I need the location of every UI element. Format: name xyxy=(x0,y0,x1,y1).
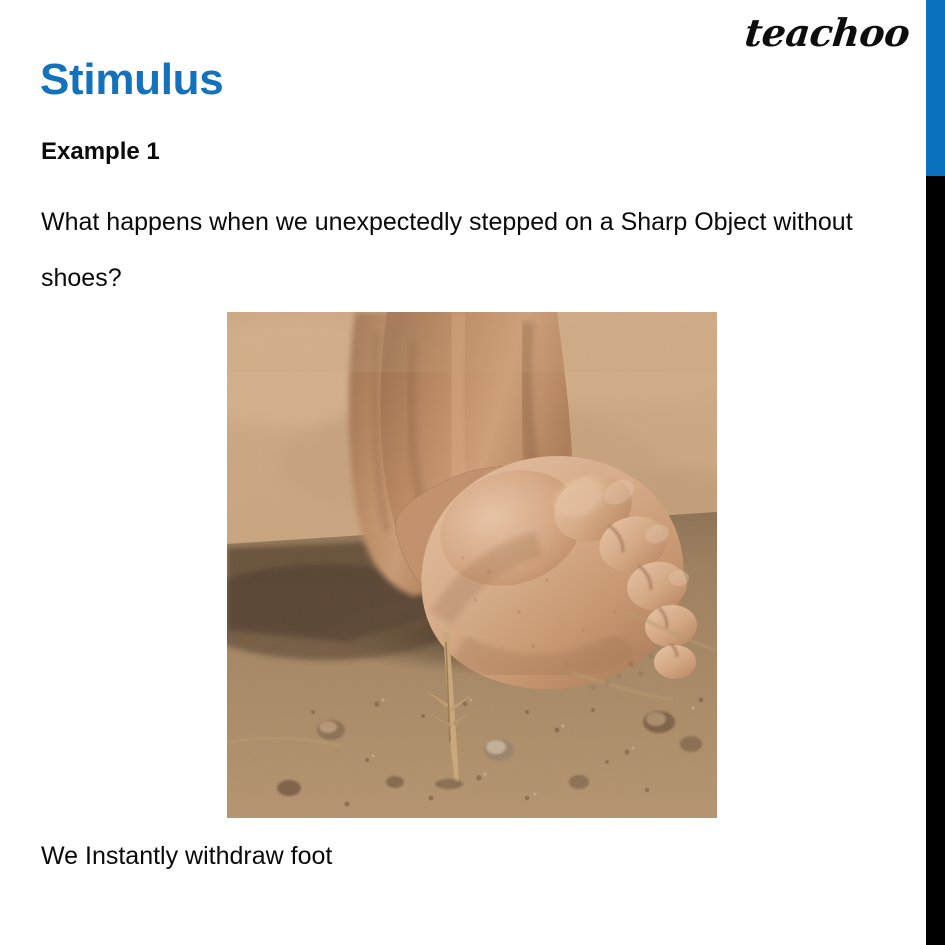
edge-accent-bar-black xyxy=(926,176,945,945)
example-label: Example 1 xyxy=(41,138,160,167)
question-text: What happens when we unexpectedly steppe… xyxy=(41,194,921,307)
edge-accent-bar-blue xyxy=(926,0,945,176)
foot-on-thorn-photo xyxy=(227,312,717,818)
page-title: Stimulus xyxy=(40,56,223,104)
answer-text: We Instantly withdraw foot xyxy=(41,840,332,873)
photo-illustration xyxy=(227,312,717,818)
slide-canvas: teachoo Stimulus Example 1 What happens … xyxy=(0,0,945,945)
teachoo-logo: teachoo xyxy=(743,14,911,52)
